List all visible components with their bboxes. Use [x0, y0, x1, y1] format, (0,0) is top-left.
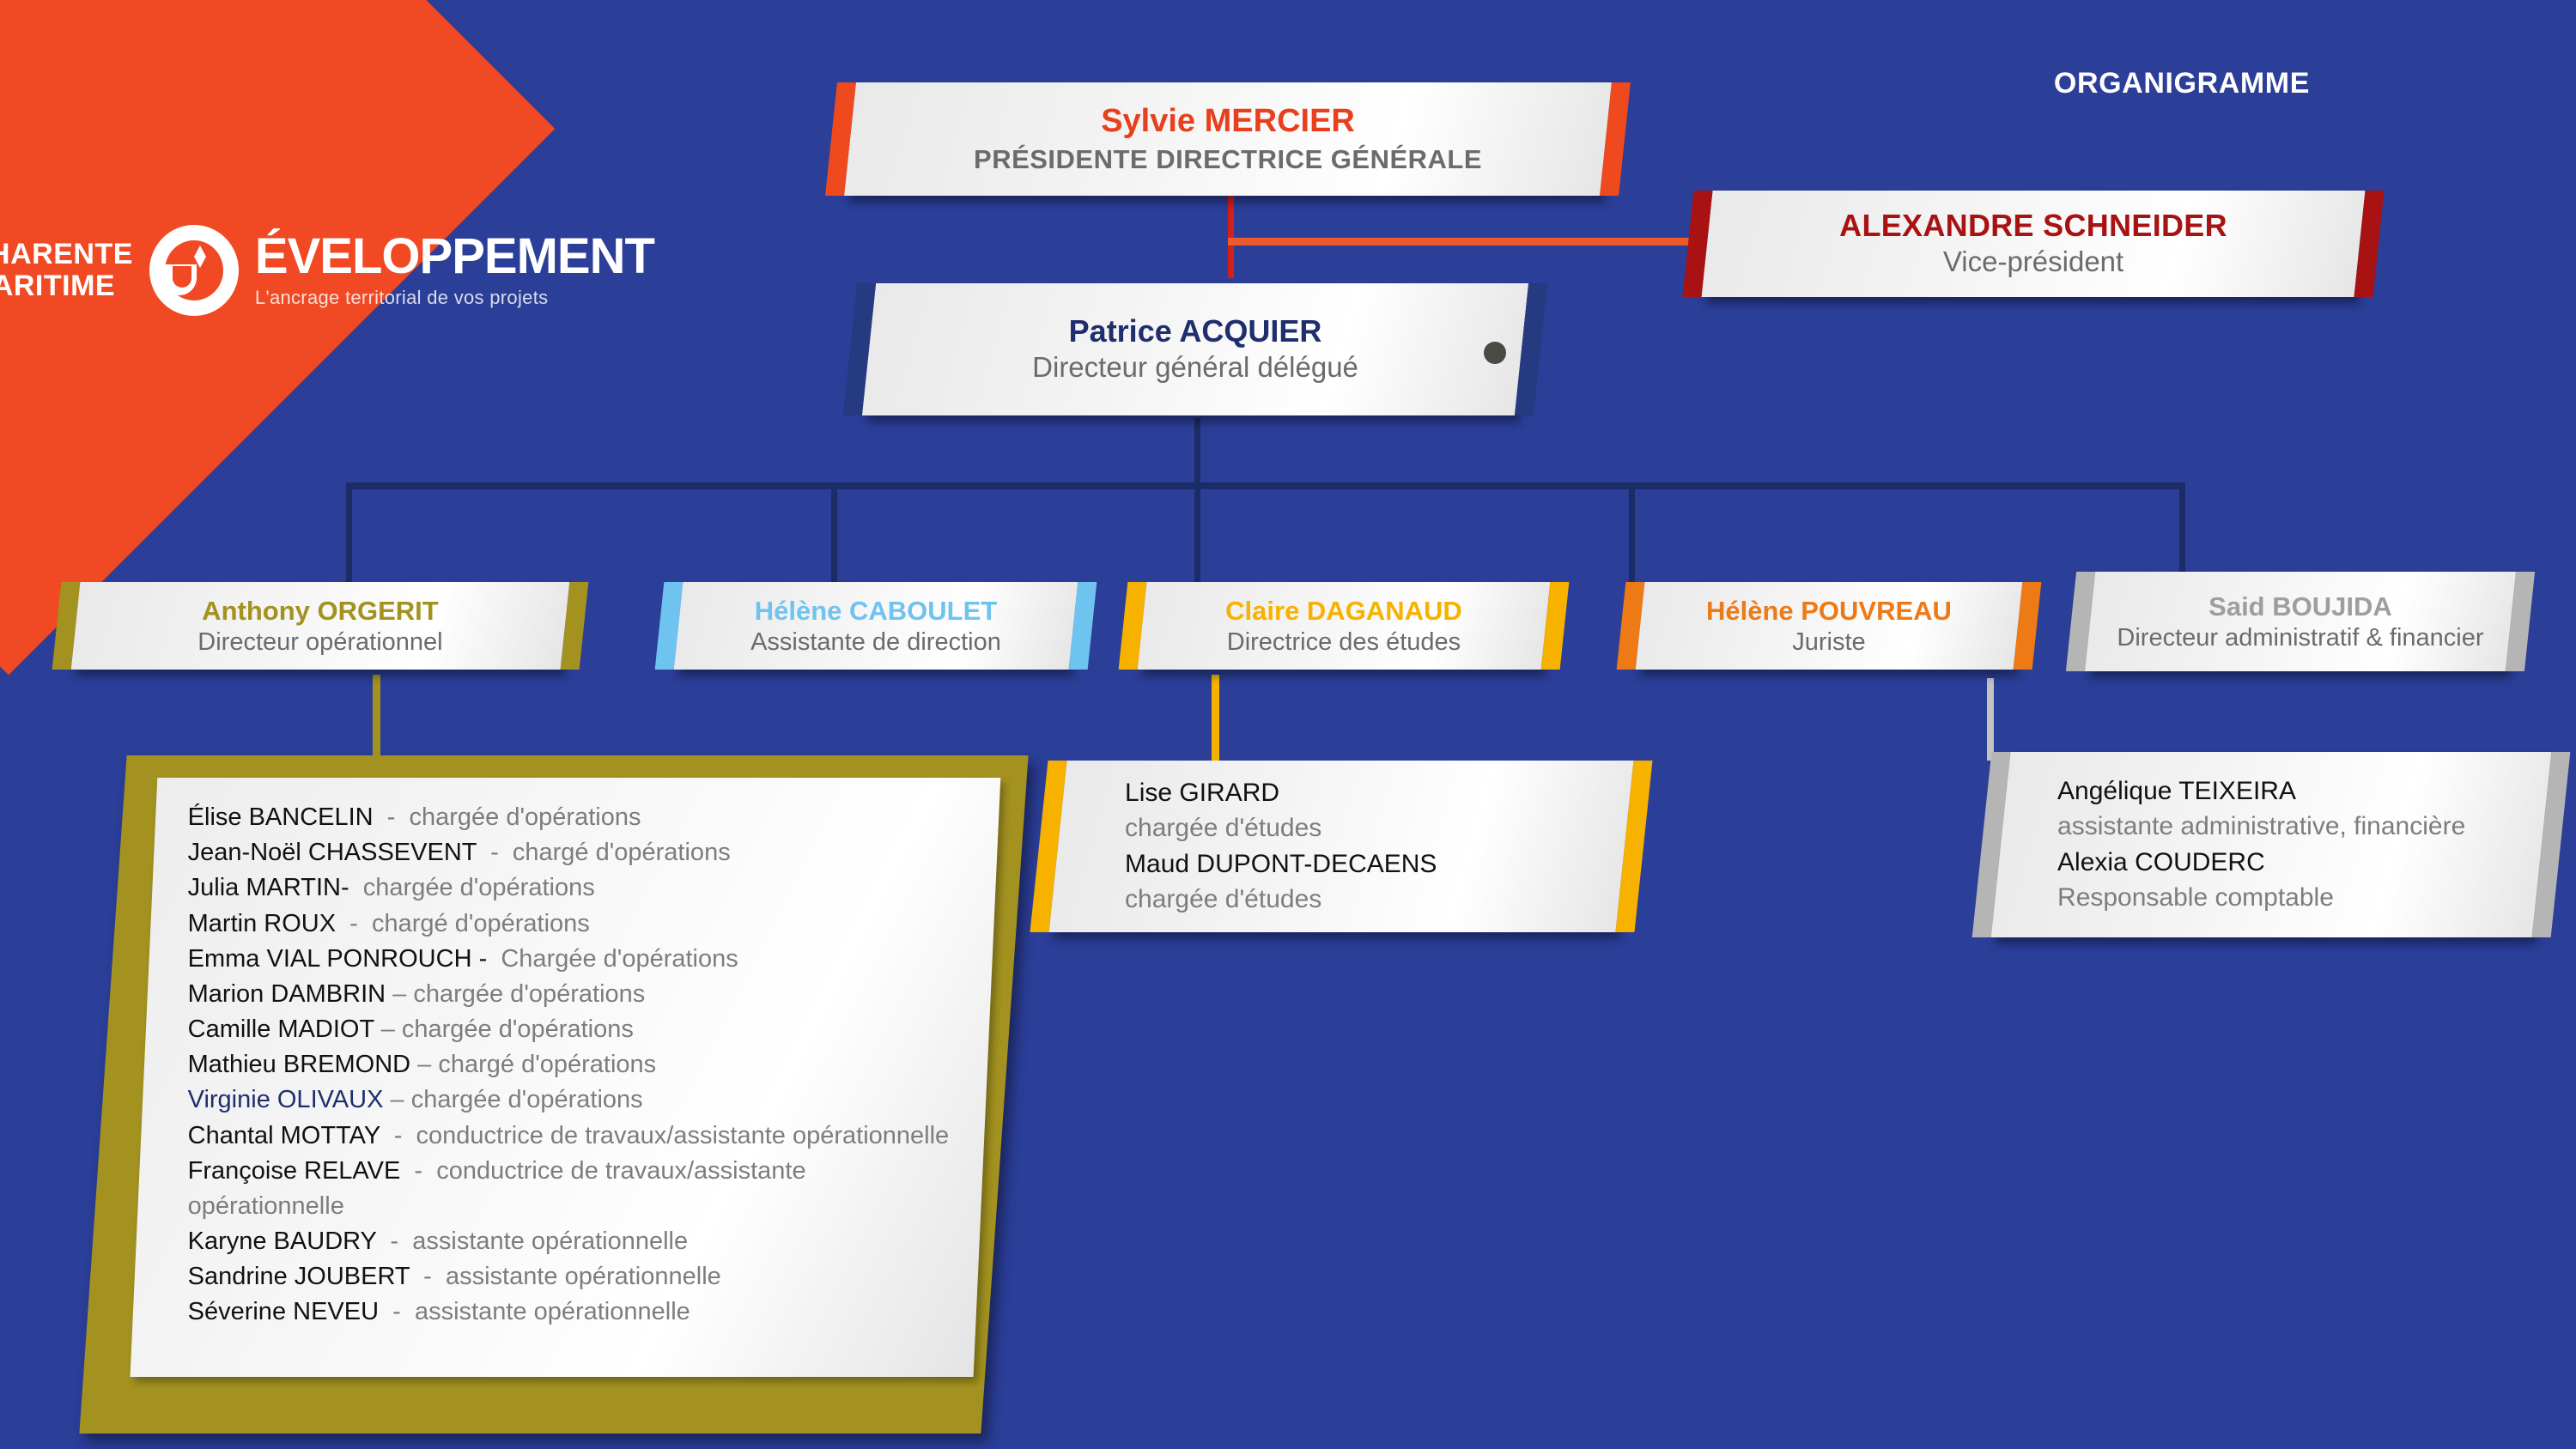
- team-member-separator: –: [383, 1086, 410, 1113]
- organigramme-slide: CHARENTE MARITIME ÉVELOPPEMENT L'ancrage…: [0, 0, 2576, 1449]
- team-member-separator: -: [380, 1122, 416, 1149]
- connector-dg-down: [1194, 418, 1200, 487]
- team-member-row: Julia MARTIN- chargée d'opérations: [188, 870, 963, 906]
- team-member-role: chargé d'opérations: [513, 839, 731, 866]
- team-member-name: Marion DAMBRIN: [188, 980, 386, 1008]
- team-member-role: assistante administrative, financière: [2057, 809, 2542, 845]
- team-member-row: Emma VIAL PONROUCH - Chargée d'opération…: [188, 942, 963, 977]
- brand-diamond: [0, 0, 555, 675]
- team-member-role: chargée d'études: [1125, 811, 1625, 846]
- team-member-row: Karyne BAUDRY - assistante opérationnell…: [188, 1224, 963, 1259]
- team-member-separator: [487, 945, 501, 973]
- team-member-row: Marion DAMBRIN – chargée d'opérations: [188, 977, 963, 1012]
- team-member-role: assistante opérationnelle: [412, 1228, 688, 1255]
- team-member-row: Virginie OLIVAUX – chargée d'opérations: [188, 1082, 963, 1118]
- team-member-role: chargée d'études: [1125, 882, 1625, 917]
- team-member-name: Françoise RELAVE: [188, 1157, 401, 1185]
- node-dg-delegue-name: Patrice ACQUIER: [869, 313, 1522, 349]
- node-directeur-operationnel[interactable]: Anthony ORGERIT Directeur opérationnel: [71, 582, 570, 670]
- team-member-name: Alexia COUDERC: [2057, 845, 2542, 880]
- team-member-name: Mathieu BREMOND: [188, 1051, 410, 1078]
- team-member-name: Jean-Noël CHASSEVENT: [188, 839, 477, 866]
- node-directrice-etudes-role: Directrice des études: [1142, 627, 1546, 656]
- connector-drop-juriste: [1629, 482, 1635, 594]
- node-directrice-etudes-name: Claire DAGANAUD: [1142, 596, 1546, 627]
- connector-bus: [346, 482, 2185, 489]
- team-operations-panel[interactable]: Élise BANCELIN - chargée d'opérationsJea…: [79, 755, 1028, 1434]
- team-member-name: Élise BANCELIN: [188, 803, 374, 831]
- team-member-separator: -: [379, 1298, 415, 1325]
- team-member-row: Françoise RELAVE - conductrice de travau…: [188, 1154, 963, 1224]
- node-directrice-etudes[interactable]: Claire DAGANAUD Directrice des études: [1138, 582, 1551, 670]
- team-operations-list: Élise BANCELIN - chargée d'opérationsJea…: [145, 778, 988, 1331]
- connector-drop-etudes: [1194, 482, 1200, 594]
- team-member-row: Chantal MOTTAY - conductrice de travaux/…: [188, 1119, 963, 1154]
- team-member-name: Angélique TEIXEIRA: [2057, 773, 2542, 809]
- team-member-separator: [349, 874, 363, 901]
- node-vice-president[interactable]: ALEXANDRE SCHNEIDER Vice-président: [1701, 191, 2365, 297]
- team-member-role: Chargée d'opérations: [501, 945, 738, 973]
- connector-pdg-down: [1228, 196, 1234, 278]
- connector-drop-operations: [346, 482, 352, 585]
- connector-pdg-vp: [1228, 238, 1702, 246]
- node-dg-delegue-role: Directeur général délégué: [869, 352, 1522, 385]
- connector-drop-daf: [2179, 482, 2185, 585]
- node-daf-name: Said BOUJIDA: [2090, 591, 2511, 623]
- team-member-name: Virginie OLIVAUX: [188, 1086, 384, 1113]
- team-etudes-list: Lise GIRARDchargée d'étudesMaud DUPONT-D…: [1058, 775, 1625, 918]
- connector-daf-team: [1987, 678, 1994, 761]
- team-member-row: Martin ROUX - chargé d'opérations: [188, 906, 963, 942]
- team-member-name: Séverine NEVEU: [188, 1298, 379, 1325]
- team-member-name: Lise GIRARD: [1125, 775, 1625, 810]
- team-member-separator: -: [376, 1228, 412, 1255]
- team-member-row: Séverine NEVEU - assistante opérationnel…: [188, 1294, 963, 1330]
- team-member-separator: –: [374, 1016, 402, 1043]
- node-daf-role: Directeur administratif & financier: [2090, 622, 2511, 652]
- node-juriste-role: Juriste: [1640, 627, 2018, 656]
- team-member-name: Martin ROUX: [188, 910, 336, 937]
- team-member-role: chargée d'opérations: [411, 1086, 643, 1113]
- team-member-role: chargé d'opérations: [438, 1051, 656, 1078]
- team-member-name: Karyne BAUDRY: [188, 1228, 377, 1255]
- connector-etudes-team: [1212, 675, 1219, 769]
- team-member-name: Julia MARTIN-: [188, 874, 349, 901]
- node-juriste-name: Hélène POUVREAU: [1640, 596, 2018, 627]
- team-operations-sheet: Élise BANCELIN - chargée d'opérationsJea…: [131, 778, 1001, 1377]
- team-member-role: assistante opérationnelle: [415, 1298, 690, 1325]
- node-daf[interactable]: Said BOUJIDA Directeur administratif & f…: [2085, 572, 2516, 671]
- team-etudes-card[interactable]: Lise GIRARDchargée d'étudesMaud DUPONT-D…: [1048, 761, 1633, 932]
- team-member-role: chargée d'opérations: [410, 803, 641, 831]
- team-member-role: chargé d'opérations: [372, 910, 590, 937]
- node-presidente[interactable]: Sylvie MERCIER PRÉSIDENTE DIRECTRICE GÉN…: [844, 82, 1612, 196]
- team-member-separator: –: [386, 980, 413, 1008]
- dg-delegue-handle: [1484, 342, 1506, 364]
- team-member-separator: -: [410, 1263, 446, 1290]
- node-dg-delegue[interactable]: Patrice ACQUIER Directeur général délégu…: [862, 283, 1528, 415]
- team-member-separator: -: [477, 839, 513, 866]
- team-member-role: chargée d'opérations: [402, 1016, 634, 1043]
- team-member-separator: -: [336, 910, 372, 937]
- team-administratif-card[interactable]: Angélique TEIXEIRAassistante administrat…: [1991, 752, 2552, 937]
- team-administratif-list: Angélique TEIXEIRAassistante administrat…: [2001, 773, 2542, 916]
- team-member-row: Élise BANCELIN - chargée d'opérations: [188, 800, 963, 835]
- team-member-row: Mathieu BREMOND – chargé d'opérations: [188, 1047, 963, 1082]
- team-member-role: Responsable comptable: [2057, 880, 2542, 915]
- page-title: ORGANIGRAMME: [2054, 67, 2310, 100]
- node-presidente-role: PRÉSIDENTE DIRECTRICE GÉNÉRALE: [850, 144, 1606, 176]
- team-member-row: Sandrine JOUBERT - assistante opérationn…: [188, 1259, 963, 1294]
- team-member-name: Maud DUPONT-DECAENS: [1125, 846, 1625, 882]
- team-member-name: Sandrine JOUBERT: [188, 1263, 410, 1290]
- node-vice-president-role: Vice-président: [1707, 246, 2360, 280]
- node-juriste[interactable]: Hélène POUVREAU Juriste: [1636, 582, 2023, 670]
- team-member-name: Camille MADIOT: [188, 1016, 374, 1043]
- team-member-role: conductrice de travaux/assistante opérat…: [416, 1122, 950, 1149]
- node-vice-president-name: ALEXANDRE SCHNEIDER: [1707, 208, 2360, 244]
- node-directeur-operationnel-role: Directeur opérationnel: [76, 627, 565, 656]
- team-member-role: chargée d'opérations: [363, 874, 595, 901]
- team-member-row: Jean-Noël CHASSEVENT - chargé d'opératio…: [188, 835, 963, 870]
- team-member-name: Chantal MOTTAY: [188, 1122, 380, 1149]
- node-directeur-operationnel-name: Anthony ORGERIT: [76, 596, 565, 627]
- team-member-separator: –: [410, 1051, 438, 1078]
- team-member-name: Emma VIAL PONROUCH -: [188, 945, 488, 973]
- team-member-separator: -: [374, 803, 410, 831]
- team-member-role: assistante opérationnelle: [446, 1263, 721, 1290]
- node-assistante-direction[interactable]: Hélène CABOULET Assistante de direction: [674, 582, 1078, 670]
- node-assistante-direction-role: Assistante de direction: [678, 627, 1073, 656]
- team-member-row: Camille MADIOT – chargée d'opérations: [188, 1012, 963, 1047]
- node-assistante-direction-name: Hélène CABOULET: [678, 596, 1073, 627]
- connector-drop-assistante: [831, 482, 837, 594]
- node-presidente-name: Sylvie MERCIER: [850, 102, 1606, 141]
- team-member-separator: -: [400, 1157, 436, 1185]
- team-member-role: chargée d'opérations: [413, 980, 645, 1008]
